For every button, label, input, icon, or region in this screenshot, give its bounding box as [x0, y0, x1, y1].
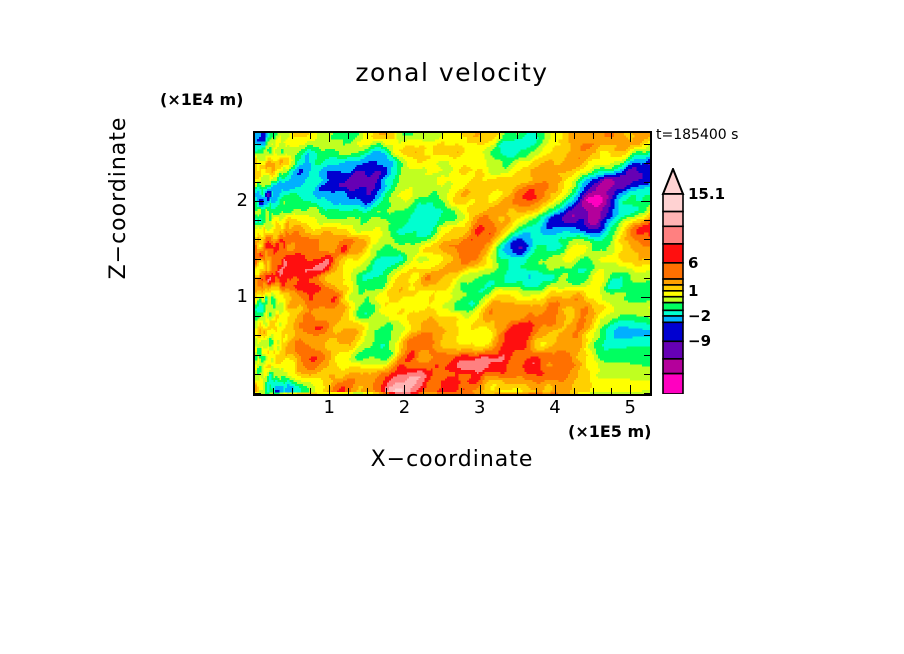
tick-mark — [255, 220, 261, 221]
colorbar-band — [663, 212, 683, 227]
tick-mark — [386, 388, 387, 394]
tick-mark — [644, 278, 650, 279]
tick-mark — [367, 133, 368, 139]
page-title: zonal velocity — [0, 58, 904, 87]
tick-mark — [329, 133, 330, 142]
tick-mark — [386, 133, 387, 139]
tick-mark — [644, 316, 650, 317]
tick-mark — [593, 133, 594, 139]
tick-mark — [292, 133, 293, 139]
colorbar-band — [663, 322, 683, 341]
y-tick-label: 2 — [218, 190, 248, 211]
x-tick-label: 4 — [540, 397, 570, 418]
colorbar-band — [663, 303, 683, 311]
colorbar-band — [663, 279, 683, 285]
tick-mark — [641, 201, 650, 202]
y-axis-unit-label: (×1E4 m) — [160, 90, 243, 109]
tick-mark — [404, 385, 405, 394]
tick-mark — [611, 133, 612, 139]
tick-mark — [644, 259, 650, 260]
colorbar-band — [663, 291, 683, 297]
tick-mark — [255, 239, 261, 240]
colorbar-tick-label: −2 — [688, 307, 711, 325]
x-tick-label: 3 — [465, 397, 495, 418]
tick-mark — [255, 144, 261, 145]
tick-mark — [536, 133, 537, 139]
x-tick-label: 5 — [615, 397, 645, 418]
colorbar-band — [663, 226, 683, 244]
tick-mark — [255, 278, 261, 279]
x-axis-unit-label: (×1E5 m) — [568, 422, 651, 441]
tick-mark — [310, 133, 311, 139]
tick-mark — [348, 133, 349, 139]
tick-mark — [442, 133, 443, 139]
colorbar-band — [663, 374, 683, 394]
timestamp-annotation: t=185400 s — [656, 127, 738, 143]
tick-mark — [442, 388, 443, 394]
tick-mark — [644, 335, 650, 336]
tick-mark — [630, 133, 631, 142]
colorbar-band — [663, 316, 683, 322]
tick-mark — [644, 163, 650, 164]
tick-mark — [644, 239, 650, 240]
tick-mark — [536, 388, 537, 394]
tick-mark — [254, 133, 255, 139]
tick-mark — [423, 133, 424, 139]
colorbar-band — [663, 341, 683, 359]
tick-mark — [644, 144, 650, 145]
tick-mark — [255, 335, 261, 336]
tick-mark — [255, 355, 261, 356]
x-tick-label: 1 — [314, 397, 344, 418]
figure-canvas: zonal velocity (×1E4 m) t=185400 s 12345… — [0, 0, 904, 654]
x-tick-label: 2 — [389, 397, 419, 418]
tick-mark — [255, 297, 264, 298]
colorbar-band — [663, 263, 683, 279]
tick-mark — [255, 201, 264, 202]
tick-mark — [273, 133, 274, 139]
colorbar-tick-label: −9 — [688, 332, 711, 350]
colorbar-arrow-tip — [663, 169, 683, 194]
tick-mark — [255, 182, 261, 183]
tick-mark — [255, 374, 261, 375]
colorbar-tick-label: 15.1 — [688, 185, 725, 203]
tick-mark — [348, 388, 349, 394]
tick-mark — [644, 393, 650, 394]
y-tick-label: 1 — [218, 286, 248, 307]
tick-mark — [480, 133, 481, 142]
tick-mark — [499, 388, 500, 394]
tick-mark — [273, 388, 274, 394]
tick-mark — [644, 355, 650, 356]
tick-mark — [593, 388, 594, 394]
tick-mark — [517, 133, 518, 139]
colorbar-band — [663, 244, 683, 263]
tick-mark — [644, 374, 650, 375]
tick-mark — [461, 388, 462, 394]
tick-mark — [644, 182, 650, 183]
colorbar-band — [663, 310, 683, 316]
tick-mark — [499, 133, 500, 139]
tick-mark — [404, 133, 405, 142]
tick-mark — [461, 133, 462, 139]
tick-mark — [480, 385, 481, 394]
x-axis-title: X−coordinate — [0, 447, 904, 472]
colorbar-band — [663, 285, 683, 291]
colorbar-band — [663, 297, 683, 303]
tick-mark — [310, 388, 311, 394]
colorbar-tick-label: 1 — [688, 282, 698, 300]
tick-mark — [574, 388, 575, 394]
tick-mark — [641, 297, 650, 298]
tick-mark — [255, 163, 261, 164]
velocity-field — [255, 133, 650, 394]
tick-mark — [574, 133, 575, 139]
colorbar-tick-label: 6 — [688, 254, 698, 272]
y-axis-title: Z−coordinate — [106, 88, 131, 308]
tick-mark — [292, 388, 293, 394]
tick-mark — [517, 388, 518, 394]
tick-mark — [555, 385, 556, 394]
tick-mark — [555, 133, 556, 142]
tick-mark — [255, 259, 261, 260]
tick-mark — [329, 385, 330, 394]
tick-mark — [611, 388, 612, 394]
colorbar-bands — [660, 168, 686, 394]
colorbar-band — [663, 194, 683, 212]
tick-mark — [255, 316, 261, 317]
colorbar-band — [663, 359, 683, 374]
tick-mark — [630, 385, 631, 394]
contour-plot-area — [253, 131, 652, 396]
tick-mark — [423, 388, 424, 394]
tick-mark — [367, 388, 368, 394]
tick-mark — [644, 220, 650, 221]
tick-mark — [255, 393, 261, 394]
